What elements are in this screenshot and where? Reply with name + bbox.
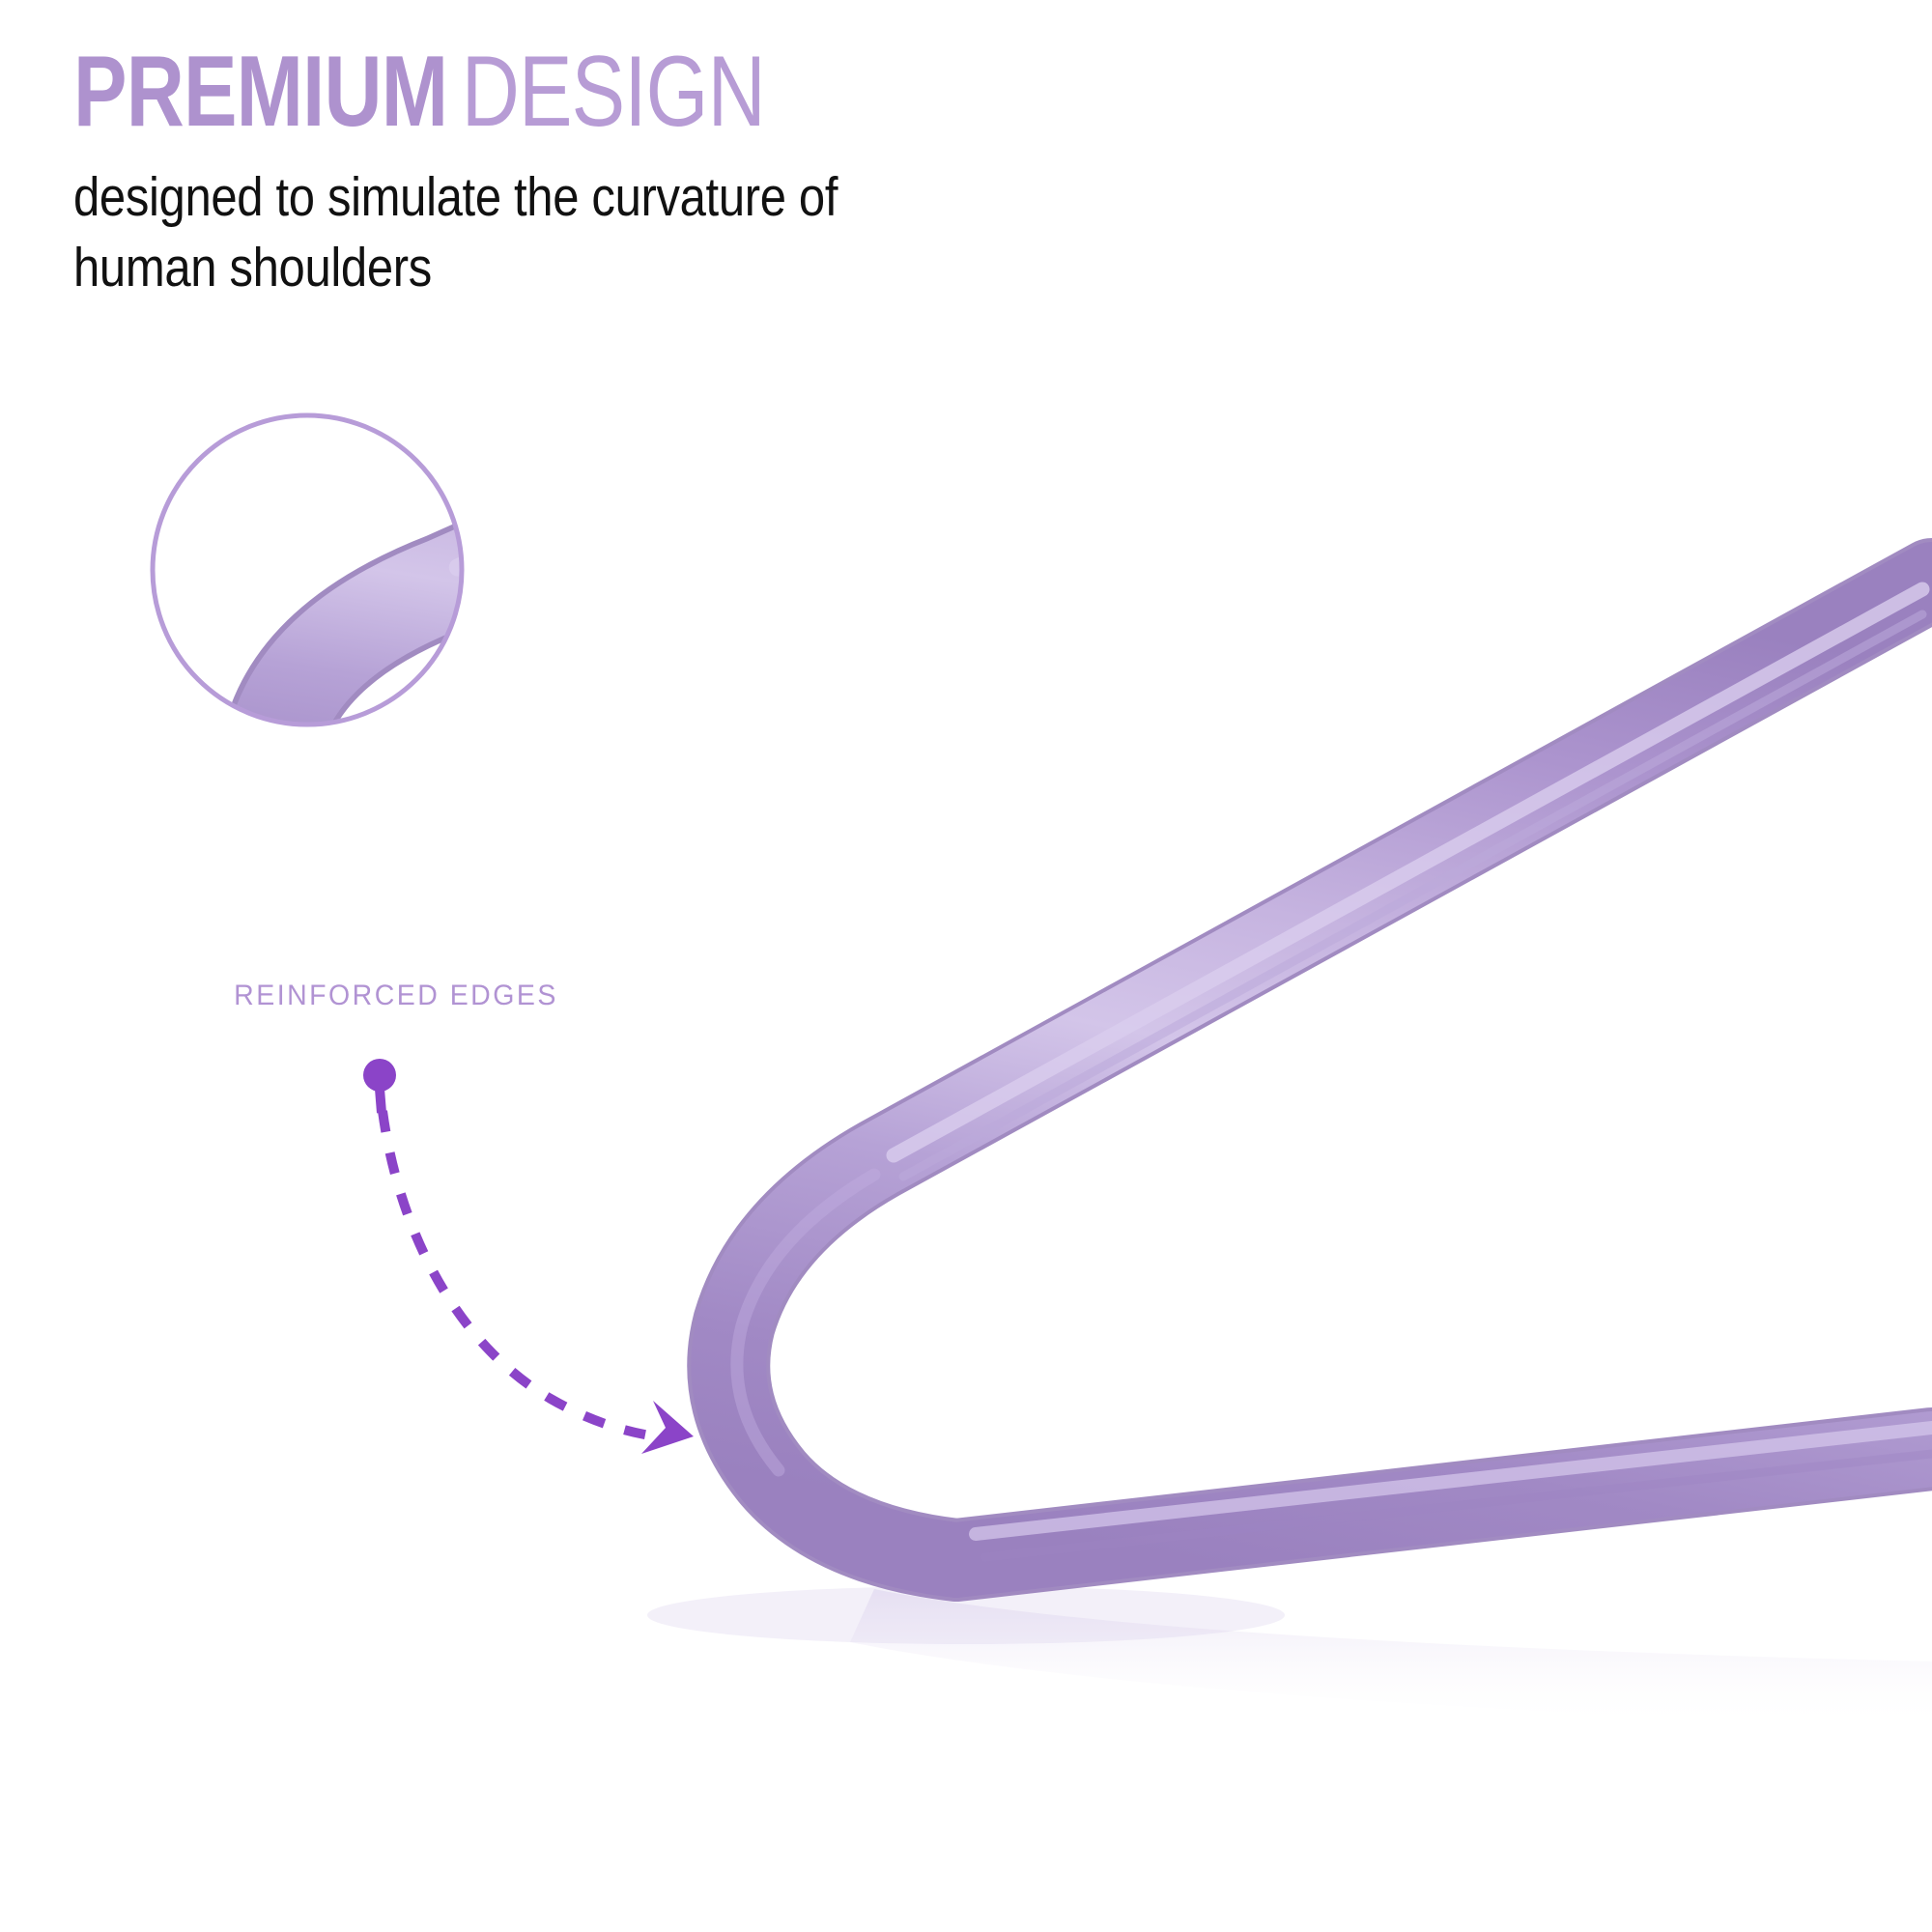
product-reflection bbox=[647, 1586, 1932, 1729]
title-light: DESIGN bbox=[462, 36, 765, 148]
hanger-body bbox=[728, 580, 1932, 1560]
subtitle-line-1: designed to simulate the curvature of bbox=[73, 141, 1070, 233]
marker-dot-icon bbox=[363, 1059, 396, 1092]
subtitle-line-2: human shoulders bbox=[73, 233, 1070, 303]
header-block: PREMIUMDESIGN designed to simulate the c… bbox=[73, 43, 1233, 303]
dashed-arrow-icon bbox=[380, 1089, 694, 1454]
callout-label: REINFORCED EDGES bbox=[185, 980, 608, 1012]
title-strong: PREMIUM bbox=[73, 36, 447, 148]
infographic-canvas: PREMIUMDESIGN designed to simulate the c… bbox=[0, 0, 1932, 1932]
page-title: PREMIUMDESIGN bbox=[73, 43, 1001, 141]
arrow-head-icon bbox=[641, 1401, 694, 1454]
magnifier-circle-icon bbox=[145, 298, 1256, 952]
